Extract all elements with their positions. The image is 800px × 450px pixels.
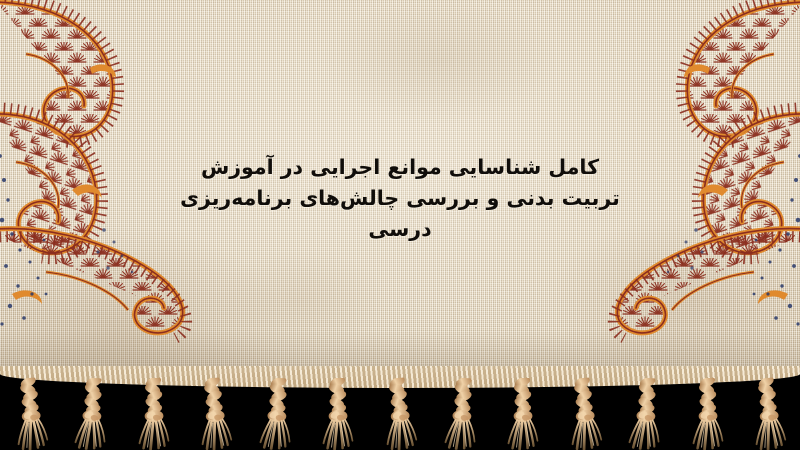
title-line-2: تربیت بدنی و بررسی چالش‌های برنامه‌ریزی xyxy=(168,183,632,214)
tassel xyxy=(129,378,178,450)
tassel xyxy=(4,376,58,450)
tassel xyxy=(558,376,612,450)
tassel xyxy=(742,376,796,450)
title-line-1: کامل شناسایی موانع اجرایی در آموزش xyxy=(168,152,632,183)
title-block: کامل شناسایی موانع اجرایی در آموزش تربیت… xyxy=(168,152,632,245)
tassel xyxy=(314,378,363,450)
title-line-3: درسی xyxy=(168,214,632,245)
tassel xyxy=(436,377,488,450)
tassel xyxy=(498,378,547,450)
image-canvas: کامل شناسایی موانع اجرایی در آموزش تربیت… xyxy=(0,0,800,450)
tassel xyxy=(66,377,118,450)
tassel xyxy=(251,377,303,450)
tassel xyxy=(683,378,732,450)
tassel xyxy=(620,377,672,450)
tassel xyxy=(188,376,242,450)
tassel xyxy=(373,376,427,450)
